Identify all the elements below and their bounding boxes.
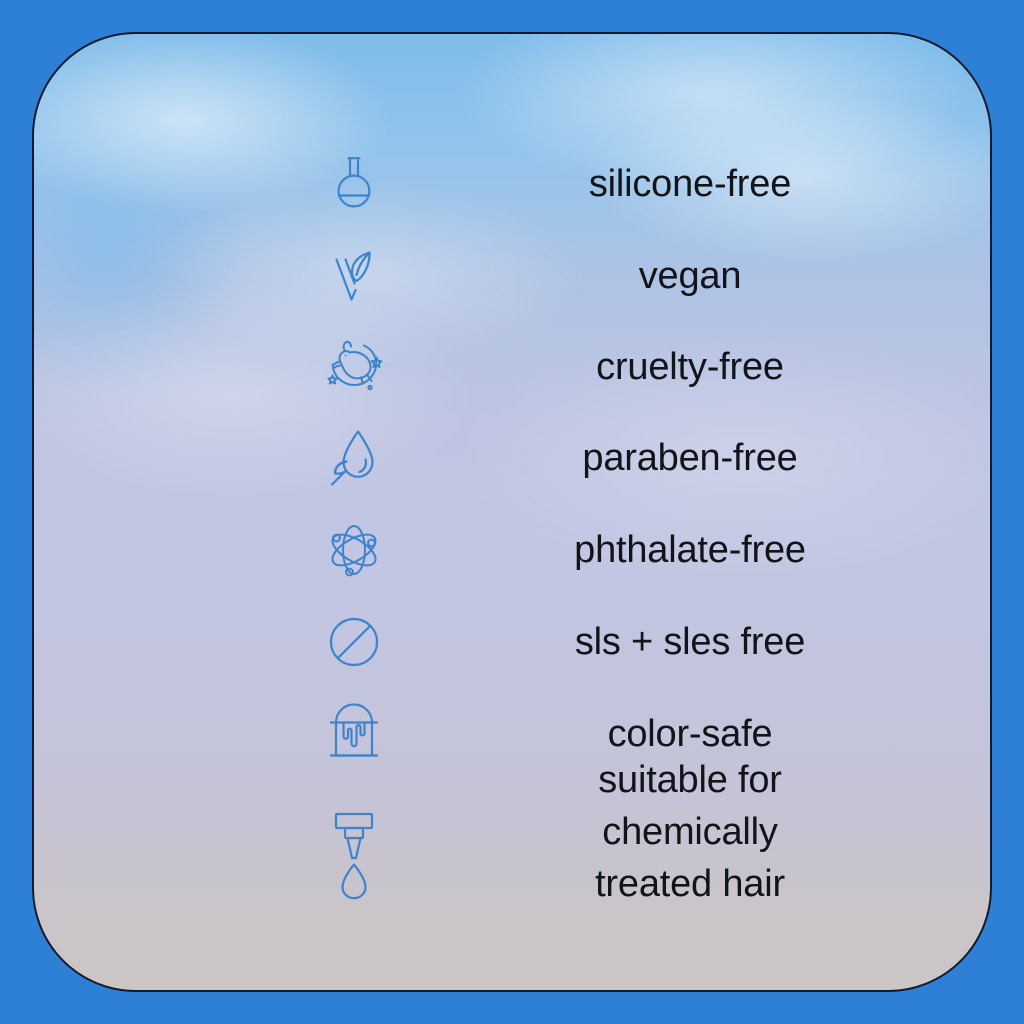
claim-row: silicone-free xyxy=(34,152,990,216)
claim-row: cruelty-free xyxy=(34,335,990,399)
product-claims-card: silicone-free vegan xyxy=(32,32,992,992)
claims-list: silicone-free vegan xyxy=(34,34,990,990)
claim-label: cruelty-free xyxy=(34,335,990,399)
claim-label: paraben-free xyxy=(34,426,990,490)
claim-row: sls + sles free xyxy=(34,610,990,674)
claim-label: suitable for chemically treated hair xyxy=(34,754,990,992)
claim-row: paraben-free xyxy=(34,426,990,490)
claim-label: sls + sles free xyxy=(34,610,990,674)
claim-row: vegan xyxy=(34,244,990,308)
claim-row: phthalate-free xyxy=(34,518,990,582)
claim-label: silicone-free xyxy=(34,152,990,216)
claim-label: phthalate-free xyxy=(34,518,990,582)
claim-label: vegan xyxy=(34,244,990,308)
claim-row: suitable for chemically treated hair xyxy=(34,806,990,910)
